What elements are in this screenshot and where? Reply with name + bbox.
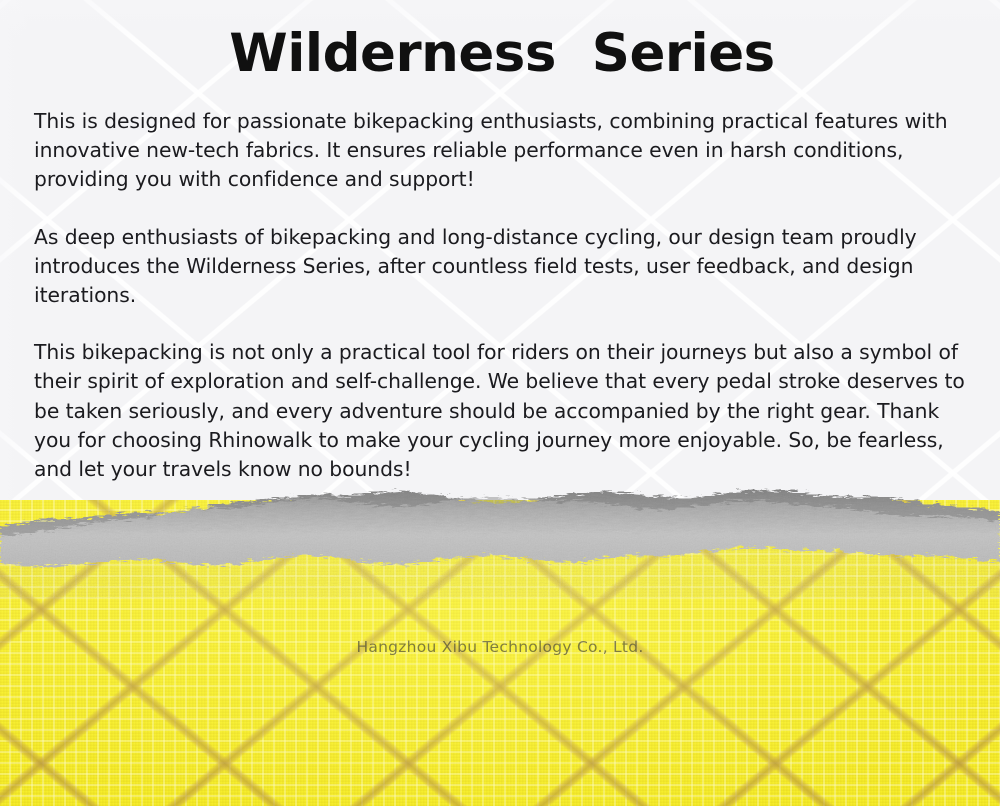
page-title: Wilderness Series xyxy=(34,0,970,80)
body-copy: This is designed for passionate bikepack… xyxy=(34,80,970,484)
text-content-column: Wilderness Series This is designed for p… xyxy=(34,0,970,484)
yellow-ripstop-fabric-panel: Hangzhou Xibu Technology Co., Ltd. xyxy=(0,500,1000,806)
paragraph-intro: This is designed for passionate bikepack… xyxy=(34,107,970,195)
product-description-page: Wilderness Series This is designed for p… xyxy=(0,0,1000,806)
paragraph-closing: This bikepacking is not only a practical… xyxy=(34,338,970,484)
paragraph-design-team: As deep enthusiasts of bikepacking and l… xyxy=(34,223,970,311)
fabric-weave-texture xyxy=(0,500,1000,806)
